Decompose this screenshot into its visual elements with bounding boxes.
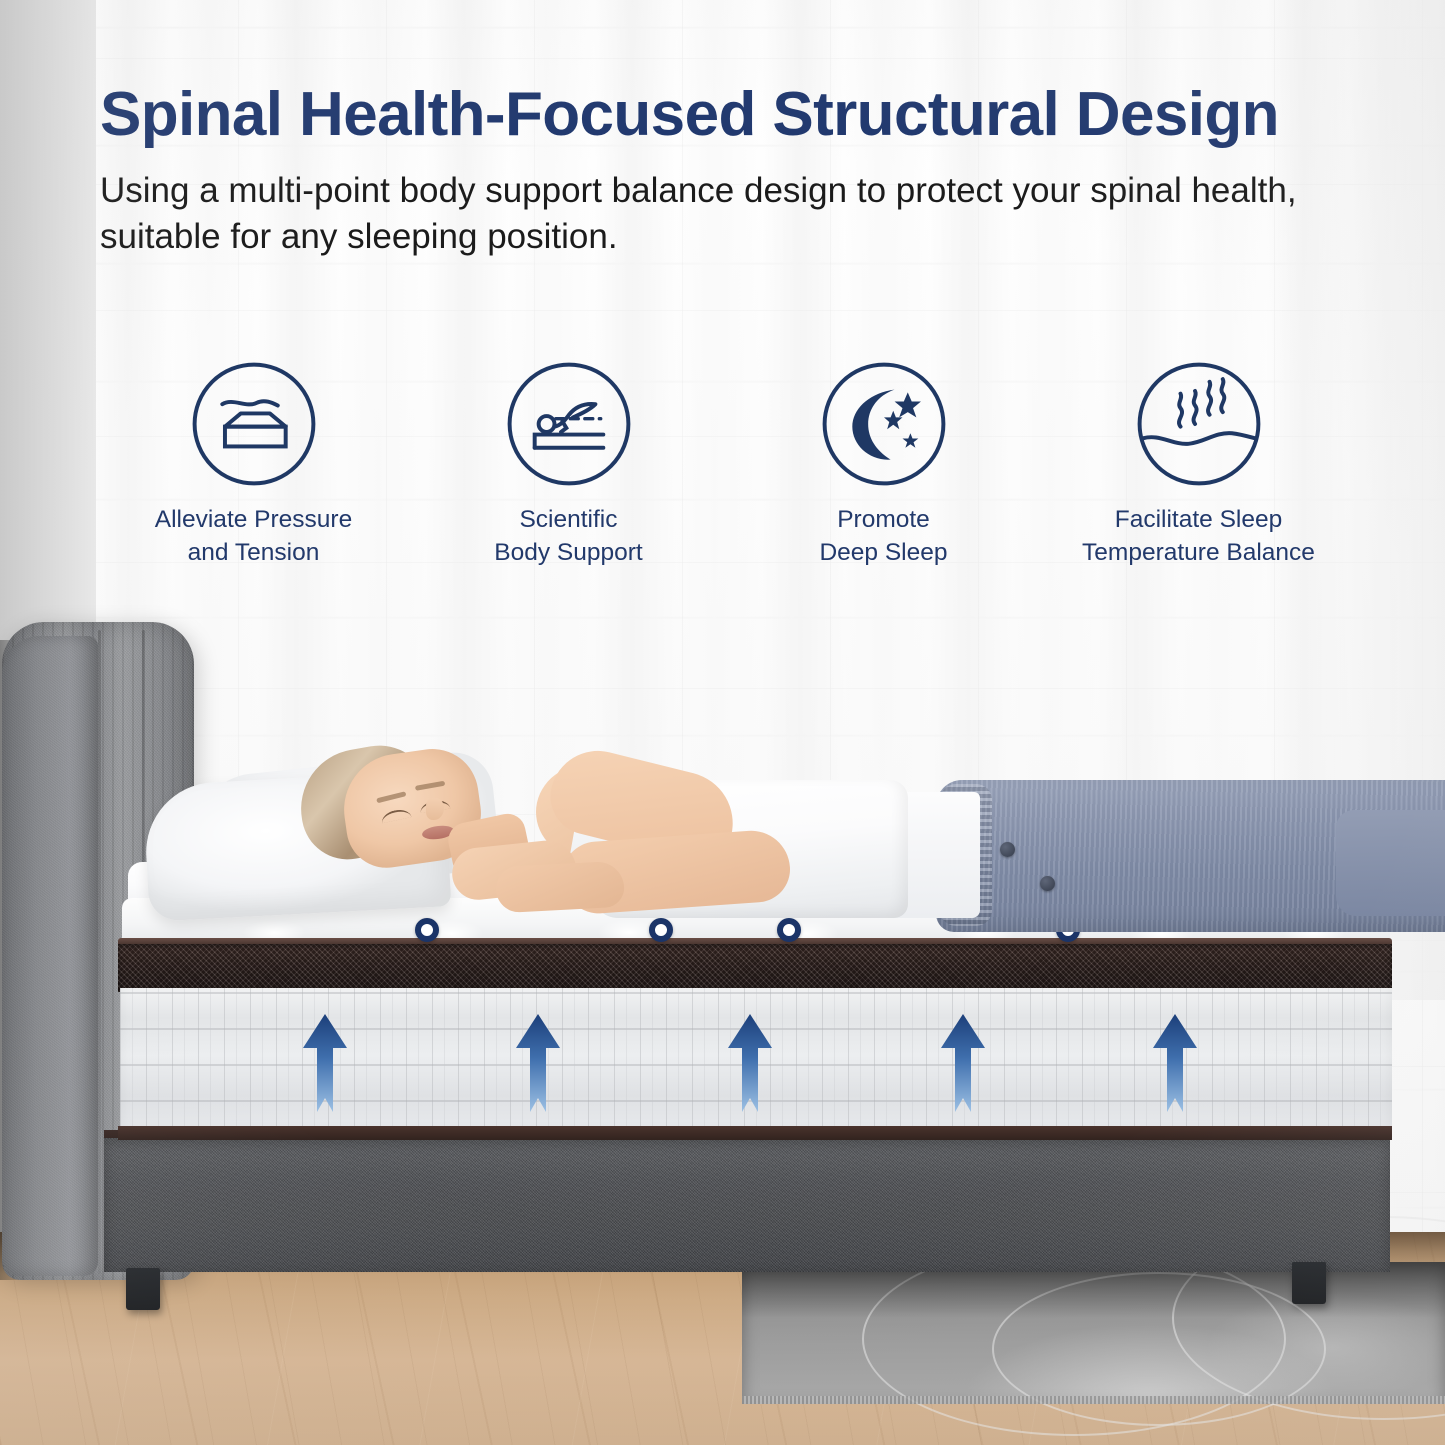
mattress-mesh-band xyxy=(118,944,1392,992)
feature-label-line2: Deep Sleep xyxy=(819,539,947,566)
support-arrow xyxy=(510,1012,566,1120)
feature-label-line2: and Tension xyxy=(188,539,320,566)
product-feature-banner: Spinal Health-Focused Structural Design … xyxy=(0,0,1445,1445)
feature-item-alleviate-pressure[interactable]: Alleviate Pressure and Tension xyxy=(96,358,411,573)
closed-eye xyxy=(380,807,411,823)
heat-waves-icon xyxy=(1133,358,1265,490)
lower-leg xyxy=(1336,810,1445,916)
body-support-icon xyxy=(503,358,635,490)
pajama-button xyxy=(1000,842,1015,857)
feature-label-line2: Body Support xyxy=(494,539,642,566)
headboard-front-texture xyxy=(2,636,98,1276)
support-arrow xyxy=(297,1012,353,1120)
eyebrow xyxy=(376,791,406,803)
rug-fringe xyxy=(742,1396,1445,1404)
feature-label-line2: Temperature Balance xyxy=(1082,539,1315,566)
feature-label: Facilitate Sleep Temperature Balance xyxy=(1082,504,1315,570)
bed-leg xyxy=(1292,1262,1326,1304)
feature-label: Scientific Body Support xyxy=(494,504,642,570)
sleeping-woman xyxy=(300,726,1310,926)
hand xyxy=(495,861,625,914)
support-arrow xyxy=(935,1012,991,1120)
feature-label: Promote Deep Sleep xyxy=(819,504,947,570)
feature-label-line1: Facilitate Sleep xyxy=(1115,506,1283,533)
feature-label-line1: Scientific xyxy=(519,506,617,533)
headboard-front-panel xyxy=(2,636,98,1276)
support-arrow xyxy=(1147,1012,1203,1120)
feature-label: Alleviate Pressure and Tension xyxy=(155,504,352,570)
feature-label-line1: Alleviate Pressure xyxy=(155,506,352,533)
mattress-bottom-trim xyxy=(118,1126,1392,1140)
bed-base xyxy=(104,1138,1390,1272)
eyebrow xyxy=(415,781,445,791)
page-title: Spinal Health-Focused Structural Design xyxy=(100,82,1370,149)
feature-item-temperature-balance[interactable]: Facilitate Sleep Temperature Balance xyxy=(1041,358,1356,573)
moon-stars-icon xyxy=(818,358,950,490)
bed-leg xyxy=(126,1268,160,1310)
support-arrow xyxy=(722,1012,778,1120)
feature-row: Alleviate Pressure and Tension Scientifi… xyxy=(96,358,1356,573)
pajama-button xyxy=(1040,876,1055,891)
feature-label-line1: Promote xyxy=(837,506,930,533)
feature-item-scientific-body-support[interactable]: Scientific Body Support xyxy=(411,358,726,573)
mattress-wave-icon xyxy=(188,358,320,490)
page-subtitle: Using a multi-point body support balance… xyxy=(100,168,1330,259)
headboard-tuft-channel xyxy=(98,630,101,1274)
feature-item-promote-deep-sleep[interactable]: Promote Deep Sleep xyxy=(726,358,1041,573)
